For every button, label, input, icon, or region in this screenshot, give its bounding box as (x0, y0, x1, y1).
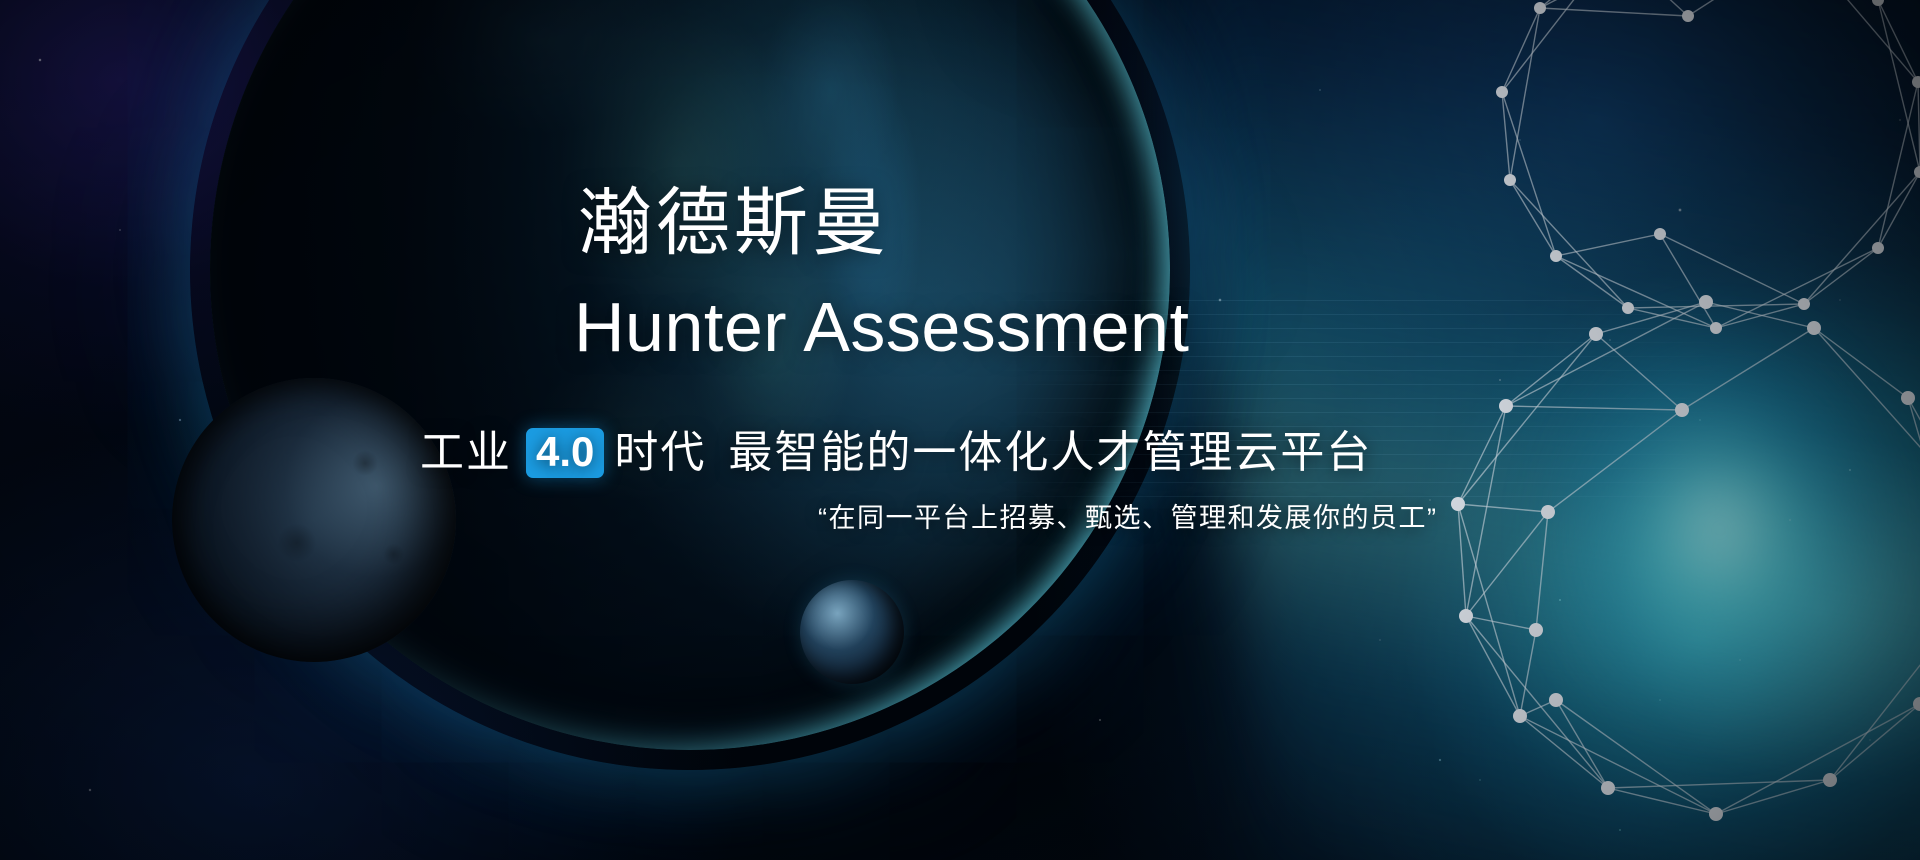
tagline-prefix: 工业 (420, 431, 512, 475)
tagline: 工业 4.0 时代 最智能的一体化人才管理云平台 (420, 428, 1372, 478)
brand-title-english: Hunter Assessment (574, 292, 1189, 362)
hero-copy-block: 瀚德斯曼 Hunter Assessment 工业 4.0 时代 最智能的一体化… (0, 0, 1920, 860)
hero-banner: 瀚德斯曼 Hunter Assessment 工业 4.0 时代 最智能的一体化… (0, 0, 1920, 860)
industry-version-badge: 4.0 (526, 428, 604, 478)
tagline-suffix: 最智能的一体化人才管理云平台 (728, 431, 1372, 475)
tagline-middle: 时代 (614, 431, 706, 475)
brand-title-chinese: 瀚德斯曼 (578, 186, 890, 260)
tagline-quote: “在同一平台上招募、甄选、管理和发展你的员工” (818, 505, 1437, 532)
